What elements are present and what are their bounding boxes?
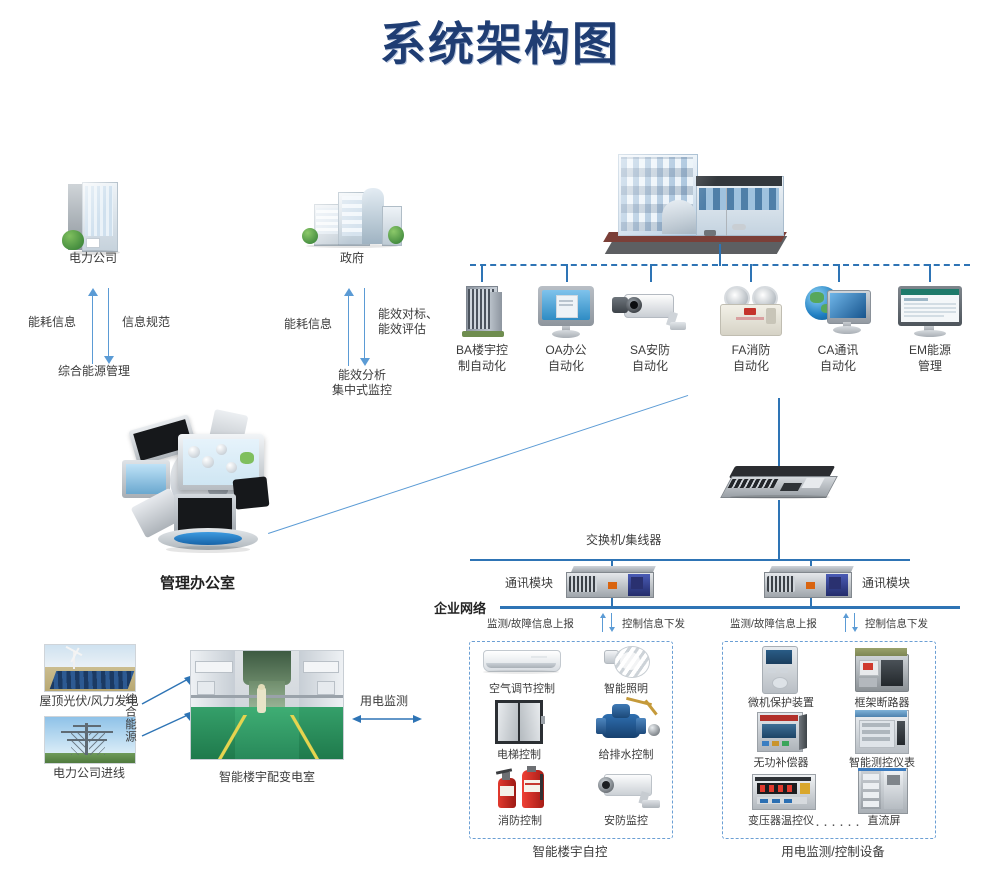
group1-title: 智能楼宇自控	[510, 845, 630, 860]
subsystem-drop-5	[838, 264, 840, 282]
switch-label: 交换机/集线器	[586, 531, 661, 548]
group1-item-label-1: 空气调节控制	[478, 682, 566, 696]
power-company-label: 电力公司	[38, 250, 148, 266]
substation-label: 智能楼宇配变电室	[196, 770, 338, 785]
power-company-up-label: 能耗信息	[28, 313, 76, 330]
report-monitor-icon	[898, 286, 962, 338]
elevator-icon	[495, 700, 543, 744]
group1-item-label-5: 消防控制	[476, 814, 564, 828]
dc-panel-icon	[858, 768, 906, 812]
building-bus-drop	[719, 244, 721, 266]
flow-up-label-2: 监测/故障信息上报	[730, 616, 817, 631]
enterprise-network-bus	[500, 606, 960, 609]
integrated-energy-management-label: 综合能源管理	[58, 362, 130, 379]
page-title: 系统架构图	[0, 8, 1000, 74]
flow-up-label-1: 监测/故障信息上报	[487, 616, 574, 631]
desktop-monitor-icon	[538, 286, 594, 338]
comm-module-bus	[470, 559, 910, 561]
group2-item-label-2: 框架断路器	[836, 696, 928, 710]
switchgear-room-photo	[190, 650, 344, 760]
energy-analysis-label: 能效分析 集中式监控	[307, 368, 417, 398]
government-down-label: 能效对标、 能效评估	[378, 307, 448, 337]
air-conditioner-icon	[483, 650, 559, 676]
group2-item-label-5: 变压器温控仪	[735, 814, 827, 828]
building-tower-icon	[460, 284, 506, 338]
switch-uplink	[778, 398, 780, 466]
subsystem-drop-1	[481, 264, 483, 282]
subsystem-label-6: EM能源 管理	[875, 342, 985, 374]
emergency-light-icon	[718, 286, 784, 338]
subsystem-drop-2	[566, 264, 568, 282]
subsystem-drop-6	[929, 264, 931, 282]
comm-module-left-label: 通讯模块	[505, 574, 553, 591]
group2-title: 用电监测/控制设备	[768, 845, 898, 860]
flow-arrows-2	[843, 613, 861, 633]
group1-item-label-3: 电梯控制	[475, 748, 563, 762]
rack-switch-icon	[724, 466, 836, 502]
globe-monitor-icon	[805, 284, 871, 338]
flow-down-label-2: 控制信息下发	[865, 616, 928, 631]
group1-item-label-4: 给排水控制	[582, 748, 670, 762]
communication-module-icon-left	[566, 566, 658, 598]
water-valve-icon	[596, 698, 660, 744]
flow-arrows-1	[600, 613, 618, 633]
energy-source-label-2: 电力公司进线	[29, 766, 149, 781]
office-to-bus-link	[268, 395, 688, 534]
cfl-bulb-icon	[604, 646, 648, 678]
reactive-compensator-icon	[757, 712, 807, 752]
fire-extinguisher-icon	[496, 766, 558, 810]
comm-module-right-label: 通讯模块	[862, 574, 910, 591]
government-arrows	[342, 288, 378, 368]
cctv-camera-icon	[598, 774, 662, 810]
power-company-arrows	[86, 288, 122, 366]
smart-building-illustration	[600, 148, 790, 258]
group2-item-label-1: 微机保护装置	[735, 696, 827, 710]
power-monitoring-arrow	[352, 712, 422, 726]
power-monitoring-arrow-label: 用电监测	[360, 692, 408, 709]
enterprise-network-label: 企业网络	[434, 598, 486, 617]
subsystem-label-3: SA安防 自动化	[595, 342, 705, 374]
subsystem-drop-3	[650, 264, 652, 282]
integrated-energy-arrow-label: 综合能源	[122, 693, 138, 743]
flow-down-label-1: 控制信息下发	[622, 616, 685, 631]
government-label: 政府	[297, 250, 407, 266]
group1-item-label-2: 智能照明	[582, 682, 670, 696]
government-illustration	[300, 186, 404, 248]
smart-meter-icon	[855, 710, 907, 752]
group2-ellipsis: ······	[815, 816, 863, 833]
switch-downlink	[778, 500, 780, 560]
air-circuit-breaker-icon	[855, 648, 907, 692]
security-camera-icon	[612, 288, 688, 336]
group1-item-label-6: 安防监控	[582, 814, 670, 828]
management-office-label: 管理办公室	[160, 572, 235, 593]
power-company-illustration	[62, 182, 124, 254]
power-company-down-label: 信息规范	[122, 313, 170, 330]
protection-relay-icon	[762, 646, 796, 692]
transformer-temp-controller-icon	[752, 774, 814, 810]
power-monitoring-arrow-svg	[352, 712, 422, 726]
multi-screen-globe-icon	[122, 412, 292, 560]
group2-item-label-3: 无功补偿器	[735, 756, 827, 770]
communication-module-icon-right	[764, 566, 856, 598]
government-up-label: 能耗信息	[284, 315, 332, 332]
solar-wind-photo	[44, 644, 136, 692]
subsystem-drop-4	[750, 264, 752, 282]
